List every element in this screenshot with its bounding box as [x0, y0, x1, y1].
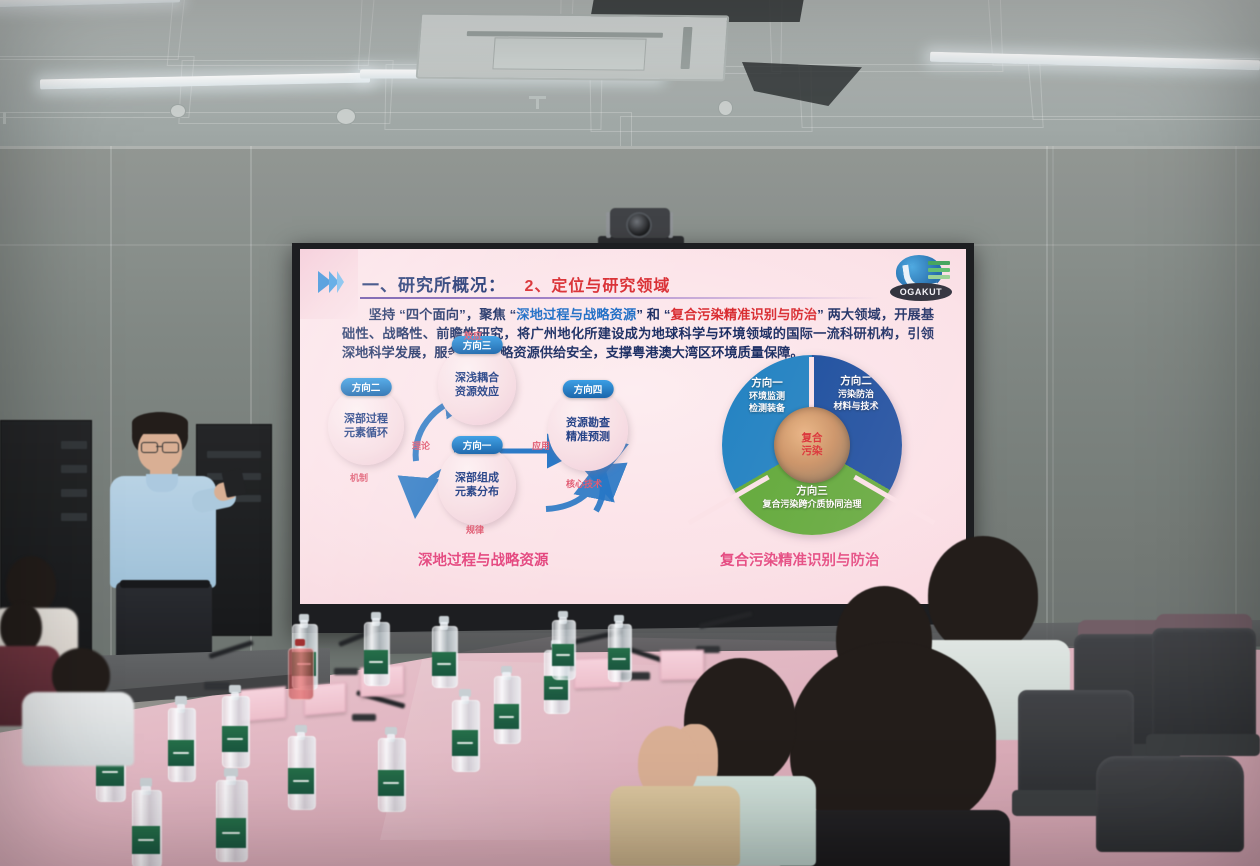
water-bottle [288, 736, 314, 808]
water-bottle [378, 738, 404, 810]
water-bottle [432, 626, 456, 686]
cycle-node-2-line2: 元素循环 [344, 426, 388, 440]
cycle-node-2: 方向二 深部过程 元素循环 [328, 387, 404, 465]
water-bottle [494, 676, 519, 742]
cycle-node-2-pill: 方向二 [341, 378, 392, 396]
cycle-node-3-line1: 深浅耦合 [455, 371, 499, 385]
attendee-right-5 [610, 726, 740, 866]
cycle-connector-application: 应用 [532, 439, 550, 452]
institute-logo: OGAKUT [890, 255, 952, 307]
cycle-node-1-line2: 元素分布 [455, 485, 499, 499]
glasses-icon [141, 442, 158, 453]
title-divider [360, 297, 880, 299]
photo-scene: 一、研究所概况： 2、定位与研究领域 OGAKUT 坚持 “四个面向 [0, 0, 1260, 866]
slide-body-text: 坚持 “四个面向”，聚焦 “深地过程与战略资源” 和 “复合污染精准识别与防治”… [342, 305, 934, 362]
pie-segment-1-label: 方向一 环境监测 检测装备 [730, 377, 804, 414]
presenter [96, 412, 246, 664]
pie-segment-1-line1: 环境监测 [730, 390, 804, 402]
glasses-bridge-icon [156, 446, 162, 447]
water-bottle [608, 624, 630, 680]
logo-text: OGAKUT [900, 287, 943, 297]
water-bottle [216, 780, 246, 860]
cycle-node-3: 方向三 深浅耦合 资源效应 [438, 345, 516, 425]
body-run-2: ” 和 “ [636, 307, 670, 322]
attendee-left-3 [22, 648, 134, 764]
cycle-node-4-line1: 资源勘查 [566, 416, 610, 430]
water-bottle [132, 790, 160, 866]
chevron-bullet-icon [318, 271, 344, 293]
pie-segment-2-pill: 方向二 [816, 375, 896, 388]
pie-center: 复合 污染 [774, 407, 850, 483]
logo-bars-icon [928, 261, 950, 281]
cycle-connector-theory: 理论 [412, 439, 430, 452]
presenter-hair-top [132, 412, 188, 434]
cycle-node-2-tag: 机制 [350, 471, 368, 484]
water-bottle [222, 696, 248, 766]
camera-lens-icon [626, 212, 652, 238]
water-bottle [168, 708, 194, 780]
cycle-node-4-tag: 核心技术 [566, 477, 602, 490]
cycle-node-4-pill: 方向四 [563, 380, 614, 398]
glasses-icon [162, 442, 179, 453]
office-chair[interactable] [1096, 756, 1246, 866]
presentation-clicker[interactable] [222, 468, 247, 498]
presenter-collar [146, 474, 178, 492]
pie-segment-3-pill: 方向三 [736, 485, 888, 498]
pie-center-line2: 污染 [802, 445, 823, 458]
smoke-detector-icon [336, 108, 356, 125]
cycle-node-1-pill: 方向一 [452, 436, 503, 454]
cycle-node-3-line2: 资源效应 [455, 385, 499, 399]
pie-segment-2-line1: 污染防治 [816, 388, 896, 400]
ceiling-ac-unit [416, 13, 730, 82]
water-bottle-red [288, 648, 312, 698]
presenter-belt [120, 580, 210, 588]
pie-segment-3-line1: 复合污染跨介质协同治理 [736, 498, 888, 510]
cycle-node-4: 方向四 资源勘查 精准预测 [548, 389, 628, 471]
pie-segment-2-label: 方向二 污染防治 材料与技术 [816, 375, 896, 412]
sprinkler-icon [3, 112, 6, 124]
cycle-node-1-tag: 规律 [466, 523, 484, 536]
slide-title-sub: 2、定位与研究领域 [524, 278, 670, 295]
water-bottle [552, 620, 574, 678]
pie-segment-1-line2: 检测装备 [730, 402, 804, 414]
cycle-node-1-line1: 深部组成 [455, 471, 499, 485]
body-run-1: 深地过程与战略资源 [516, 307, 636, 322]
body-run-0: 坚持 “四个面向”，聚焦 “ [342, 307, 516, 322]
body-run-3: 复合污染精准识别与防治 [670, 307, 817, 322]
ceiling [0, 0, 1260, 150]
presentation-screen: 一、研究所概况： 2、定位与研究领域 OGAKUT 坚持 “四个面向 [292, 243, 974, 633]
cycle-node-2-line1: 深部过程 [344, 412, 388, 426]
slide-title: 一、研究所概况： 2、定位与研究领域 [362, 271, 670, 296]
pie-segment-1-pill: 方向一 [730, 377, 804, 390]
sprinkler-icon [529, 96, 546, 99]
pie-segment-3-label: 方向三 复合污染跨介质协同治理 [736, 485, 888, 510]
slide-surface: 一、研究所概况： 2、定位与研究领域 OGAKUT 坚持 “四个面向 [300, 249, 966, 604]
logo-wordmark: OGAKUT [890, 283, 952, 301]
cycle-node-3-tag: 效应 [464, 329, 482, 342]
cycle-node-4-line2: 精准预测 [566, 430, 610, 444]
pie-segment-2-line2: 材料与技术 [816, 400, 896, 412]
slide-title-main: 一、研究所概况： [362, 276, 506, 295]
water-bottle [452, 700, 478, 770]
cycle-node-1: 方向一 深部组成 元素分布 [438, 445, 516, 525]
water-bottle [364, 622, 388, 684]
pie-center-line1: 复合 [802, 432, 823, 445]
smoke-detector-icon [718, 100, 733, 116]
left-diagram-caption: 深地过程与战略资源 [418, 549, 549, 570]
right-diagram-caption: 复合污染精准识别与防治 [720, 549, 880, 570]
smoke-detector-icon [170, 104, 186, 118]
